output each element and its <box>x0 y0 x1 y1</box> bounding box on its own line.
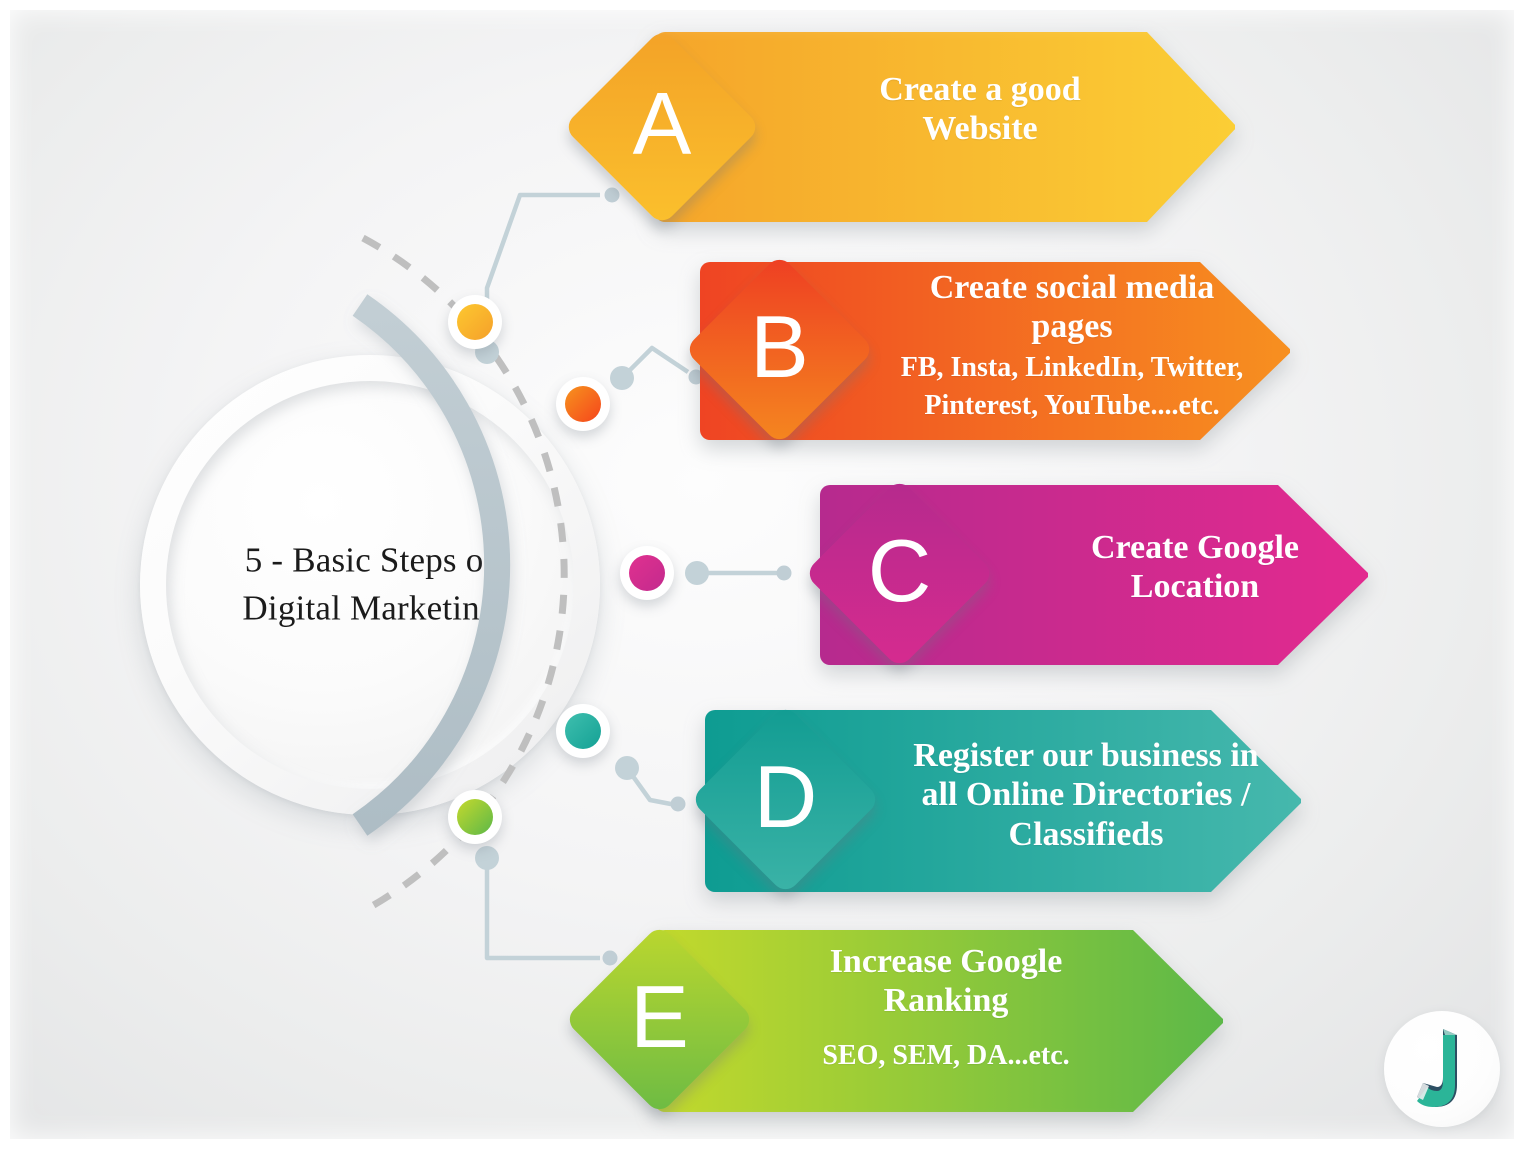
step-e-subtitle-line1: SEO, SEM, DA...etc. <box>760 1039 1132 1073</box>
step-badge-e[interactable]: E <box>564 924 755 1115</box>
step-a-title-line1: Create a good <box>790 70 1170 109</box>
step-badge-d[interactable]: D <box>690 704 881 895</box>
step-text-d: Register our business in all Online Dire… <box>880 736 1292 854</box>
step-e-title-line1: Increase Google <box>760 942 1132 981</box>
connector-line-e <box>475 846 618 966</box>
step-badge-a[interactable]: A <box>563 28 761 226</box>
step-a-title-line2: Website <box>790 109 1170 148</box>
step-b-subtitle-line1: FB, Insta, LinkedIn, Twitter, <box>872 351 1272 385</box>
step-c-title-line2: Location <box>1000 567 1390 606</box>
step-marker-b[interactable] <box>556 377 610 431</box>
step-badge-b-letter: B <box>712 282 847 417</box>
step-e-title-line2: Ranking <box>760 981 1132 1020</box>
step-marker-c-dot <box>629 555 665 591</box>
step-d-title-line3: Classifieds <box>880 815 1292 854</box>
step-d-title-line1: Register our business in <box>880 736 1292 775</box>
step-marker-e[interactable] <box>448 790 502 844</box>
step-badge-c[interactable]: C <box>804 478 995 669</box>
step-text-a: Create a good Website <box>790 70 1170 149</box>
step-b-subtitle-line2: Pinterest, YouTube....etc. <box>872 389 1272 423</box>
connector-line-c <box>685 561 792 585</box>
connector-line-d <box>615 756 686 812</box>
step-badge-e-letter: E <box>592 952 727 1087</box>
step-text-e: Increase Google Ranking SEO, SEM, DA...e… <box>760 942 1132 1073</box>
step-marker-d[interactable] <box>556 704 610 758</box>
brand-logo[interactable] <box>1384 1011 1500 1127</box>
step-b-title-line1: Create social media <box>872 268 1272 307</box>
j-logo-icon <box>1403 1023 1481 1115</box>
step-marker-c[interactable] <box>620 546 674 600</box>
step-d-title-line2: all Online Directories / <box>880 775 1292 814</box>
step-text-b: Create social media pages FB, Insta, Lin… <box>872 268 1272 423</box>
step-marker-a[interactable] <box>448 295 502 349</box>
step-text-c: Create Google Location <box>1000 528 1390 607</box>
step-marker-e-dot <box>457 799 493 835</box>
step-badge-d-letter: D <box>718 732 853 867</box>
infographic-canvas: 5 - Basic Steps of Digital Marketing <box>0 0 1524 1149</box>
step-c-title-line1: Create Google <box>1000 528 1390 567</box>
step-badge-c-letter: C <box>832 506 967 641</box>
step-marker-b-dot <box>565 386 601 422</box>
step-marker-d-dot <box>565 713 601 749</box>
step-badge-b[interactable]: B <box>684 254 875 445</box>
step-b-title-line2: pages <box>872 307 1272 346</box>
step-badge-a-letter: A <box>592 57 732 197</box>
arc-band <box>360 305 497 825</box>
step-marker-a-dot <box>457 304 493 340</box>
